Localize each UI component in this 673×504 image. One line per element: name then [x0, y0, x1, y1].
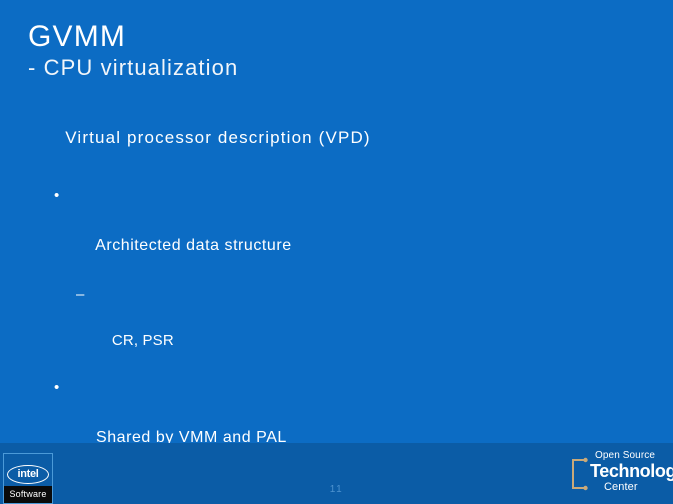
page-title: GVMM — [28, 20, 648, 54]
list-item: • Architected data structure — [28, 183, 648, 283]
list-item-label: Virtual processor description (VPD) — [65, 128, 370, 147]
bullet-dot-icon: • — [54, 375, 60, 400]
open-source-technology-center-logo: Open Source Technology Center — [566, 450, 669, 498]
title-block: GVMM - CPU virtualization — [28, 20, 648, 82]
ostc-line-technology: Technology — [590, 462, 670, 481]
list-item: Virtual processor description (VPD) — [28, 96, 648, 180]
bullet-dot-icon: • — [54, 183, 60, 208]
list-item-label: CR, PSR — [112, 332, 174, 349]
list-item: – CR, PSR — [28, 283, 648, 375]
ostc-line-center: Center — [590, 481, 670, 494]
list-item-label: Architected data structure — [95, 237, 292, 254]
intel-software-logo: intel Software — [3, 453, 53, 504]
presentation-slide: GVMM - CPU virtualization Virtual proces… — [0, 0, 673, 504]
ostc-text-block: Open Source Technology Center — [590, 450, 670, 494]
bullet-dash-icon: – — [76, 283, 85, 306]
intel-oval-icon: intel — [7, 465, 49, 484]
bracket-arrow-icon — [566, 456, 588, 492]
page-subtitle: - CPU virtualization — [28, 54, 648, 82]
intel-wordmark: intel — [17, 469, 38, 480]
